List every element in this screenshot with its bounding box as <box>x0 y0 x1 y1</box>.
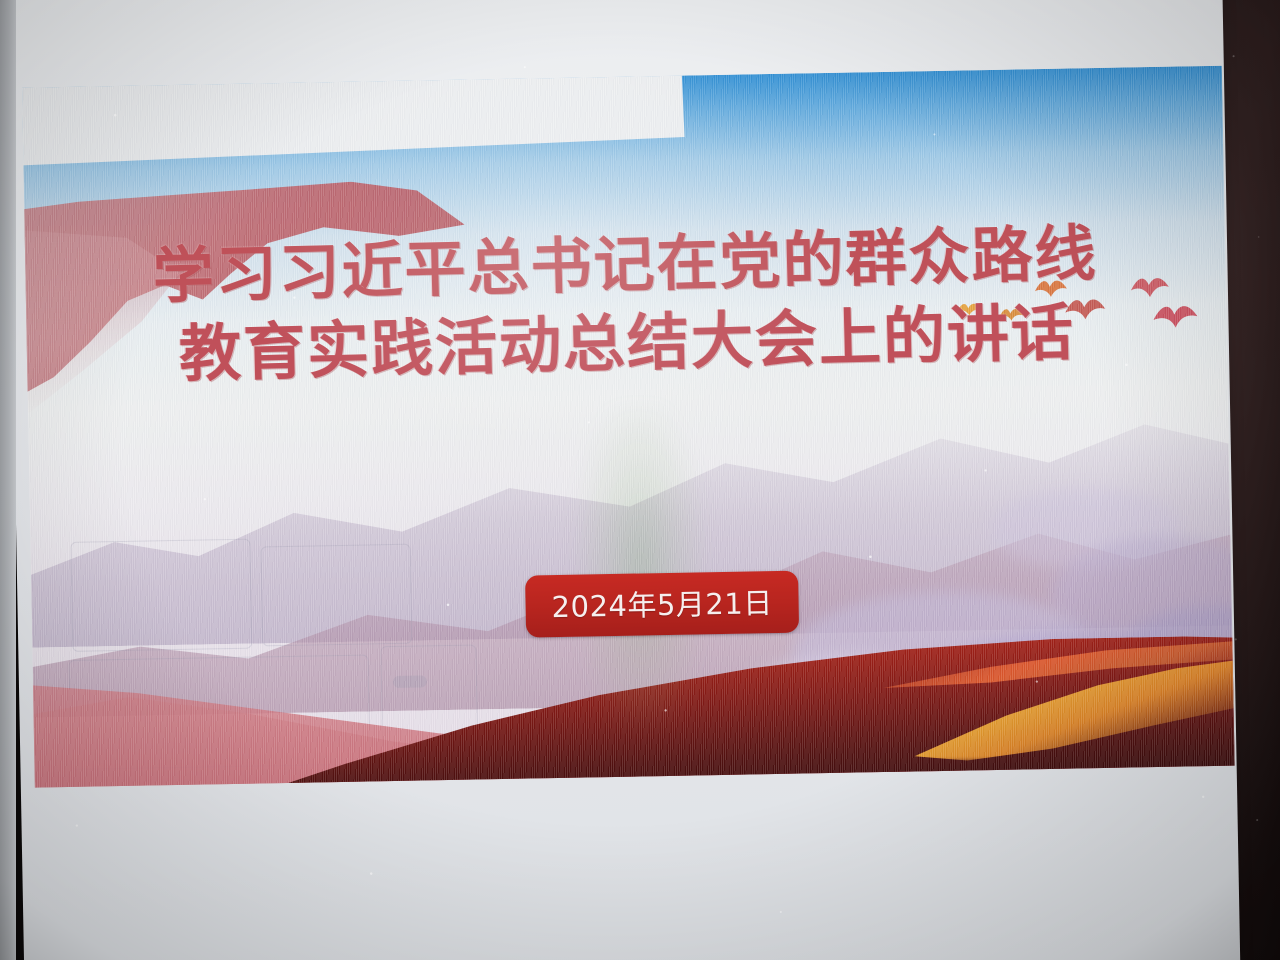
wall-strip-left <box>0 0 16 960</box>
slide-date-badge: 2024年5月21日 <box>525 571 799 638</box>
slide-artwork: 学习习近平总书记在党的群众路线 教育实践活动总结大会上的讲话 2024年5月21… <box>22 66 1235 788</box>
projection-screen: 学习习近平总书记在党的群众路线 教育实践活动总结大会上的讲话 2024年5月21… <box>6 0 1240 960</box>
slide-title-block: 学习习近平总书记在党的群众路线 教育实践活动总结大会上的讲话 <box>24 212 1227 397</box>
ghost-shape-5 <box>393 675 427 688</box>
ghost-shape-2 <box>260 544 412 647</box>
projector-green-artifact <box>573 405 709 727</box>
photo-canvas: 学习习近平总书记在党的群众路线 教育实践活动总结大会上的讲话 2024年5月21… <box>0 0 1280 960</box>
ghost-shape-1 <box>70 539 252 652</box>
